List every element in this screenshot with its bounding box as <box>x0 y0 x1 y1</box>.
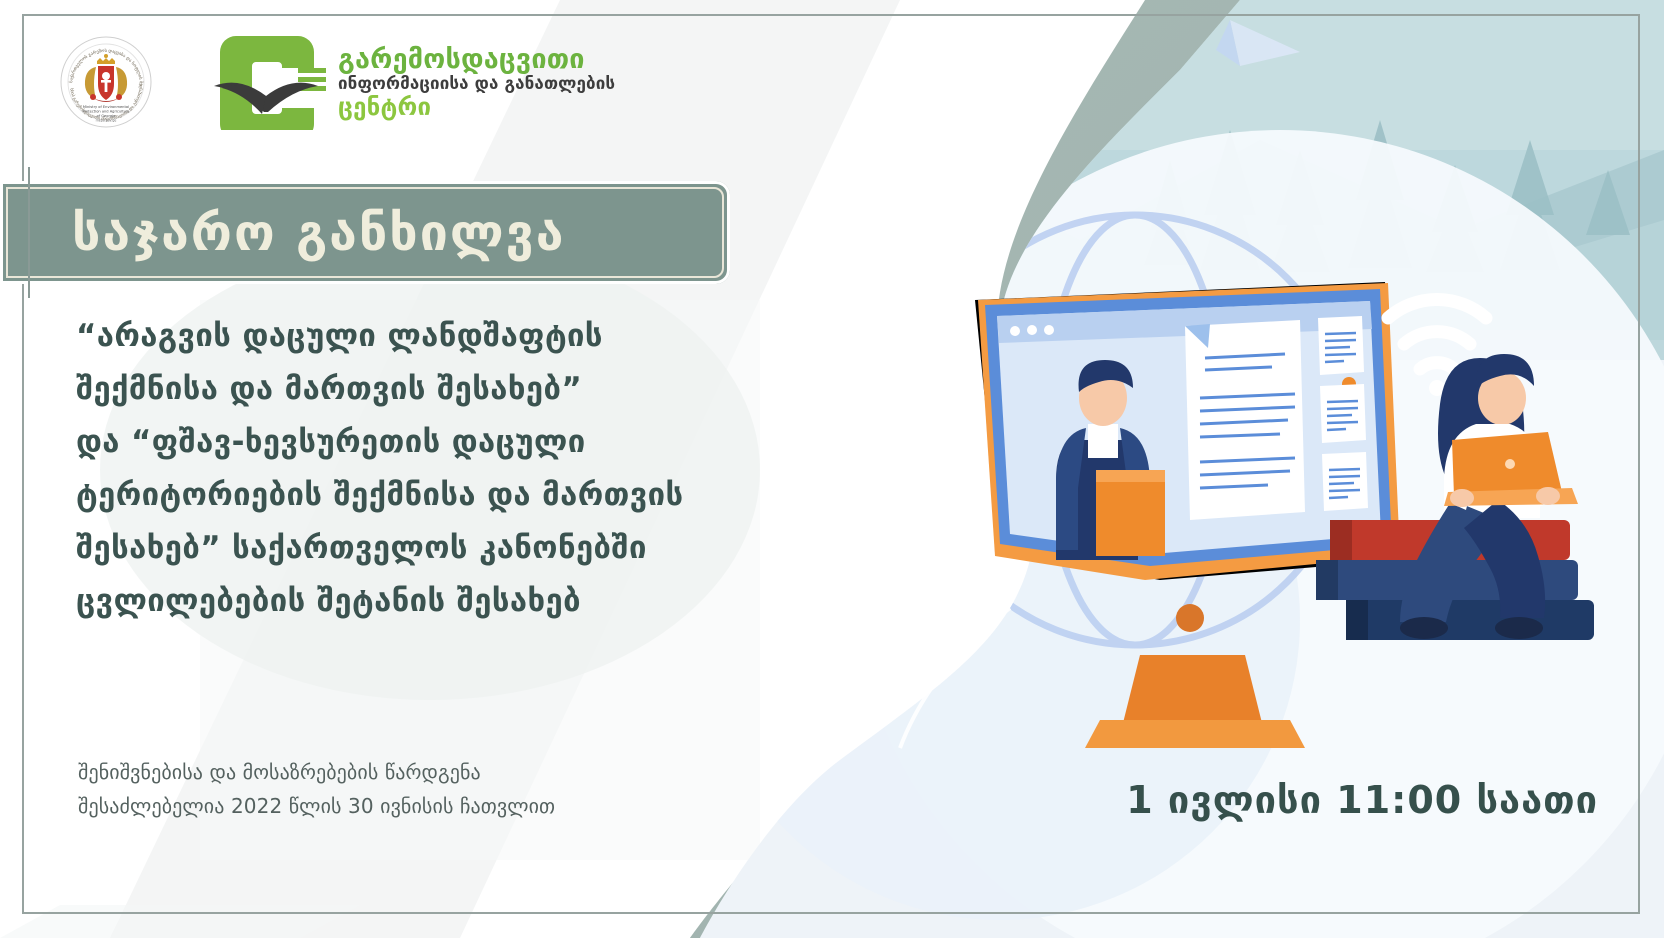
body-line-6: ცვლილებების შეტანის შესახებ <box>76 575 716 628</box>
body-line-2: შექმნისა და მართვის შესახებ” <box>76 363 716 416</box>
body-line-1: “არაგვის დაცული ლანდშაფტის <box>76 310 716 363</box>
title-banner: საჯარო განხილვა <box>0 181 730 284</box>
ceic-book-c-icon <box>212 34 328 130</box>
submission-note-line-1: შენიშვნებისა და მოსაზრებების წარდგენა <box>78 755 718 789</box>
page-title: საჯარო განხილვა <box>0 204 565 262</box>
event-datetime: 1 ივლისი 11:00 საათი <box>1126 778 1598 822</box>
svg-text:Ministry of Environmental: Ministry of Environmental <box>83 105 129 109</box>
body-line-5: შესახებ” საქართველოს კანონებში <box>76 522 716 575</box>
document-thumbnails <box>1318 316 1368 511</box>
ceic-logo: გარემოსდაცვითი ინფორმაციისა და განათლები… <box>212 34 615 130</box>
svg-text:mepa.gov.ge: mepa.gov.ge <box>96 119 117 123</box>
svg-text:Protection and Agriculture: Protection and Agriculture <box>83 110 131 114</box>
document-page <box>1185 320 1305 520</box>
body-line-3: და “ფშავ-ხევსურეთის დაცული <box>76 416 716 469</box>
header-logos: საქართველოს გარემოს დაცვისა და სოფლის მე… <box>60 34 615 130</box>
ministry-seal-icon: საქართველოს გარემოს დაცვისა და სოფლის მე… <box>60 36 152 128</box>
ceic-logo-text: გარემოსდაცვითი ინფორმაციისა და განათლები… <box>338 46 615 119</box>
banner-left-tick <box>28 167 30 298</box>
svg-text:of Georgia: of Georgia <box>97 114 116 118</box>
ceic-logo-line2: ინფორმაციისა და განათლების <box>338 76 615 93</box>
ceic-logo-line1: გარემოსდაცვითი <box>338 46 615 73</box>
title-banner-wrapper: საჯარო განხილვა <box>0 181 730 284</box>
ministry-seal-logo: საქართველოს გარემოს დაცვისა და სოფლის მე… <box>60 36 152 128</box>
submission-note-line-2: შესაძლებელია 2022 წლის 30 ივნისის ჩათვლი… <box>78 789 718 823</box>
ceic-logo-line3: ცენტრი <box>338 95 615 119</box>
poster-canvas: საქართველოს გარემოს დაცვისა და სოფლის მე… <box>0 0 1664 938</box>
submission-note: შენიშვნებისა და მოსაზრებების წარდგენა შე… <box>78 755 718 823</box>
body-copy: “არაგვის დაცული ლანდშაფტის შექმნისა და მ… <box>76 310 716 628</box>
ceic-logo-mark-icon <box>212 34 328 130</box>
body-line-4: ტერიტორიების შექმნისა და მართვის <box>76 469 716 522</box>
